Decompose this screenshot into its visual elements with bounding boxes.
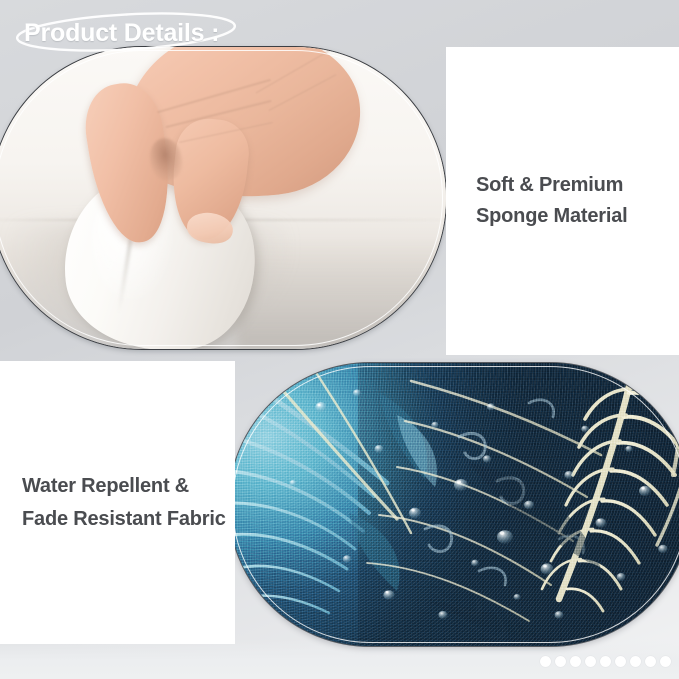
page-title: Product Details : — [24, 19, 219, 48]
fabric-caption-card: Water Repellent & Fade Resistant Fabric — [0, 361, 235, 644]
dot — [630, 656, 641, 667]
dot — [645, 656, 656, 667]
dot — [570, 656, 581, 667]
fabric-photo — [229, 363, 679, 646]
dot — [555, 656, 566, 667]
sponge-caption-card: Soft & Premium Sponge Material — [446, 47, 679, 355]
foam-shadow-right — [237, 240, 446, 349]
fabric-caption-line-1: Water Repellent & — [0, 470, 235, 502]
sponge-caption-line-2: Sponge Material — [446, 201, 679, 232]
sponge-caption-line-1: Soft & Premium — [446, 170, 679, 201]
sponge-photo — [0, 47, 446, 349]
dot — [615, 656, 626, 667]
fabric-photo-panel — [228, 362, 679, 647]
dot — [585, 656, 596, 667]
fabric-caption-line-2: Fade Resistant Fabric — [0, 503, 235, 535]
water-droplets — [229, 363, 679, 646]
pagination-dots — [540, 656, 671, 667]
dot — [600, 656, 611, 667]
dot — [540, 656, 551, 667]
dot — [660, 656, 671, 667]
sponge-photo-panel — [0, 46, 447, 350]
product-details-page: Product Details : Soft & Premium Sponge … — [0, 0, 679, 679]
header-badge: Product Details : — [10, 8, 240, 56]
